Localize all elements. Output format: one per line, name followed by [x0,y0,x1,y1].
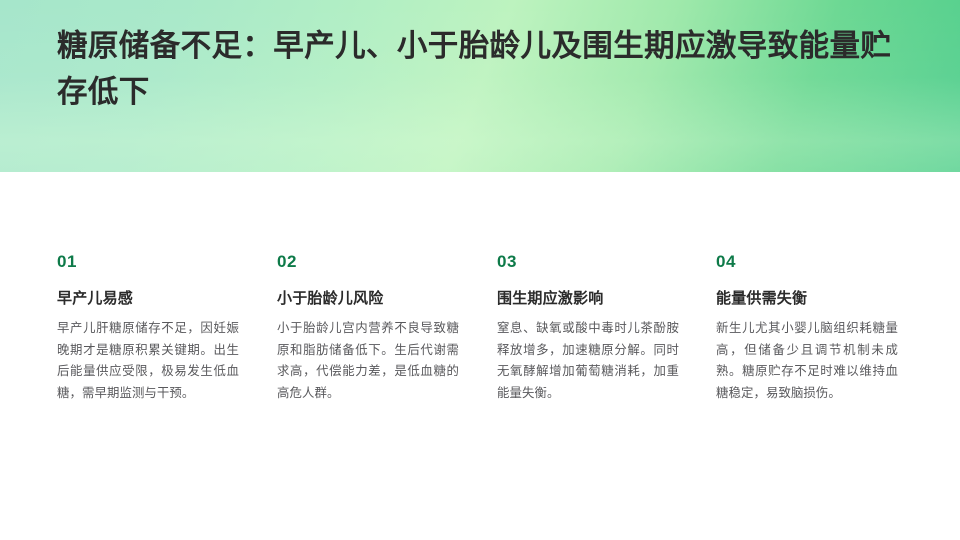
column-heading-1: 早产儿易感 [57,289,239,309]
column-body-3: 窒息、缺氧或酸中毒时儿茶酚胺释放增多，加速糖原分解。同时无氧酵解增加葡萄糖消耗，… [497,318,679,404]
column-body-1: 早产儿肝糖原储存不足，因妊娠晚期才是糖原积累关键期。出生后能量供应受限，极易发生… [57,318,239,404]
slide: 糖原储备不足：早产儿、小于胎龄儿及围生期应激导致能量贮存低下 01 早产儿易感 … [0,0,960,540]
column-number-1: 01 [57,252,239,272]
title-container: 糖原储备不足：早产儿、小于胎龄儿及围生期应激导致能量贮存低下 [57,23,913,115]
column-number-2: 02 [277,252,459,272]
content-column-3: 03 围生期应激影响 窒息、缺氧或酸中毒时儿茶酚胺释放增多，加速糖原分解。同时无… [497,252,679,404]
column-heading-2: 小于胎龄儿风险 [277,289,459,309]
content-column-2: 02 小于胎龄儿风险 小于胎龄儿宫内营养不良导致糖原和脂肪储备低下。生后代谢需求… [277,252,459,404]
column-body-2: 小于胎龄儿宫内营养不良导致糖原和脂肪储备低下。生后代谢需求高，代偿能力差，是低血… [277,318,459,404]
page-title: 糖原储备不足：早产儿、小于胎龄儿及围生期应激导致能量贮存低下 [57,23,913,115]
column-number-3: 03 [497,252,679,272]
column-body-4: 新生儿尤其小婴儿脑组织耗糖量高，但储备少且调节机制未成熟。糖原贮存不足时难以维持… [716,318,898,404]
content-columns: 01 早产儿易感 早产儿肝糖原储存不足，因妊娠晚期才是糖原积累关键期。出生后能量… [0,172,960,540]
column-heading-4: 能量供需失衡 [716,289,898,309]
column-number-4: 04 [716,252,898,272]
content-column-4: 04 能量供需失衡 新生儿尤其小婴儿脑组织耗糖量高，但储备少且调节机制未成熟。糖… [716,252,898,404]
content-column-1: 01 早产儿易感 早产儿肝糖原储存不足，因妊娠晚期才是糖原积累关键期。出生后能量… [57,252,239,404]
column-heading-3: 围生期应激影响 [497,289,679,309]
